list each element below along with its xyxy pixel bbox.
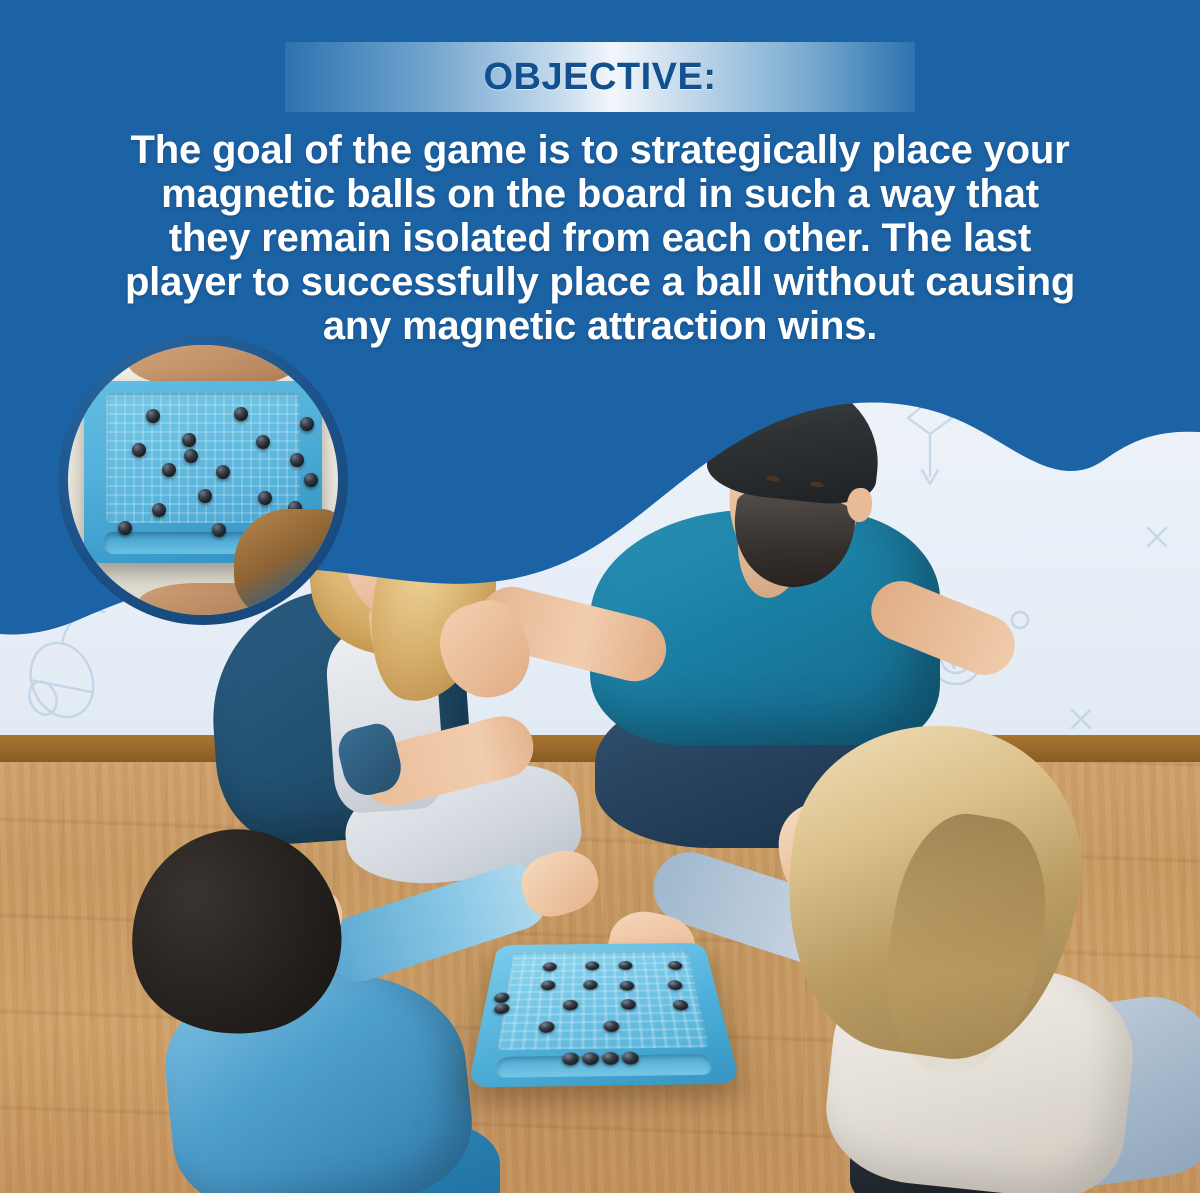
- inset-magnet-ball: [234, 407, 248, 421]
- inset-magnet-ball: [182, 433, 196, 447]
- inset-photo: [68, 345, 338, 615]
- inset-magnet-ball: [184, 449, 198, 463]
- inset-magnet-ball: [304, 473, 318, 487]
- inset-magnet-ball: [300, 417, 314, 431]
- copy-line-3: they remain isolated from each other. Th…: [58, 216, 1142, 260]
- objective-banner: OBJECTIVE:: [285, 42, 915, 112]
- inset-magnet-ball: [212, 523, 226, 537]
- inset-magnet-ball: [256, 435, 270, 449]
- magnet-ball: [667, 980, 683, 990]
- poster-root: OBJECTIVE: The goal of the game is to st…: [0, 0, 1200, 1200]
- person-boy: [90, 830, 490, 1200]
- person-girl: [760, 725, 1200, 1195]
- inset-magnet-ball: [216, 465, 230, 479]
- inset-magnet-ball: [162, 463, 176, 477]
- inset-magnet-ball: [118, 521, 132, 535]
- copy-line-4: player to successfully place a ball with…: [58, 260, 1142, 304]
- copy-line-2: magnetic balls on the board in such a wa…: [58, 172, 1142, 216]
- copy-line-1: The goal of the game is to strategically…: [58, 128, 1142, 172]
- computer-mouse-doodle: [20, 610, 104, 726]
- inset-magnet-ball: [132, 443, 146, 457]
- inset-magnet-ball: [290, 453, 304, 467]
- inset-magnet-ball: [146, 409, 160, 423]
- bottom-white-strip: [0, 1193, 1200, 1200]
- inset-magnet-ball: [198, 489, 212, 503]
- inset-magnet-ball: [258, 491, 272, 505]
- banner-title: OBJECTIVE:: [483, 56, 716, 99]
- magnet-ball: [668, 961, 683, 970]
- inset-corner-person: [234, 509, 338, 615]
- inset-magnet-ball: [152, 503, 166, 517]
- objective-paragraph: The goal of the game is to strategically…: [58, 128, 1142, 348]
- man-ear: [847, 488, 872, 522]
- magnetic-chess-board[interactable]: [468, 943, 741, 1088]
- board-closeup-inset[interactable]: [58, 335, 348, 625]
- inset-board-grid: [106, 393, 300, 523]
